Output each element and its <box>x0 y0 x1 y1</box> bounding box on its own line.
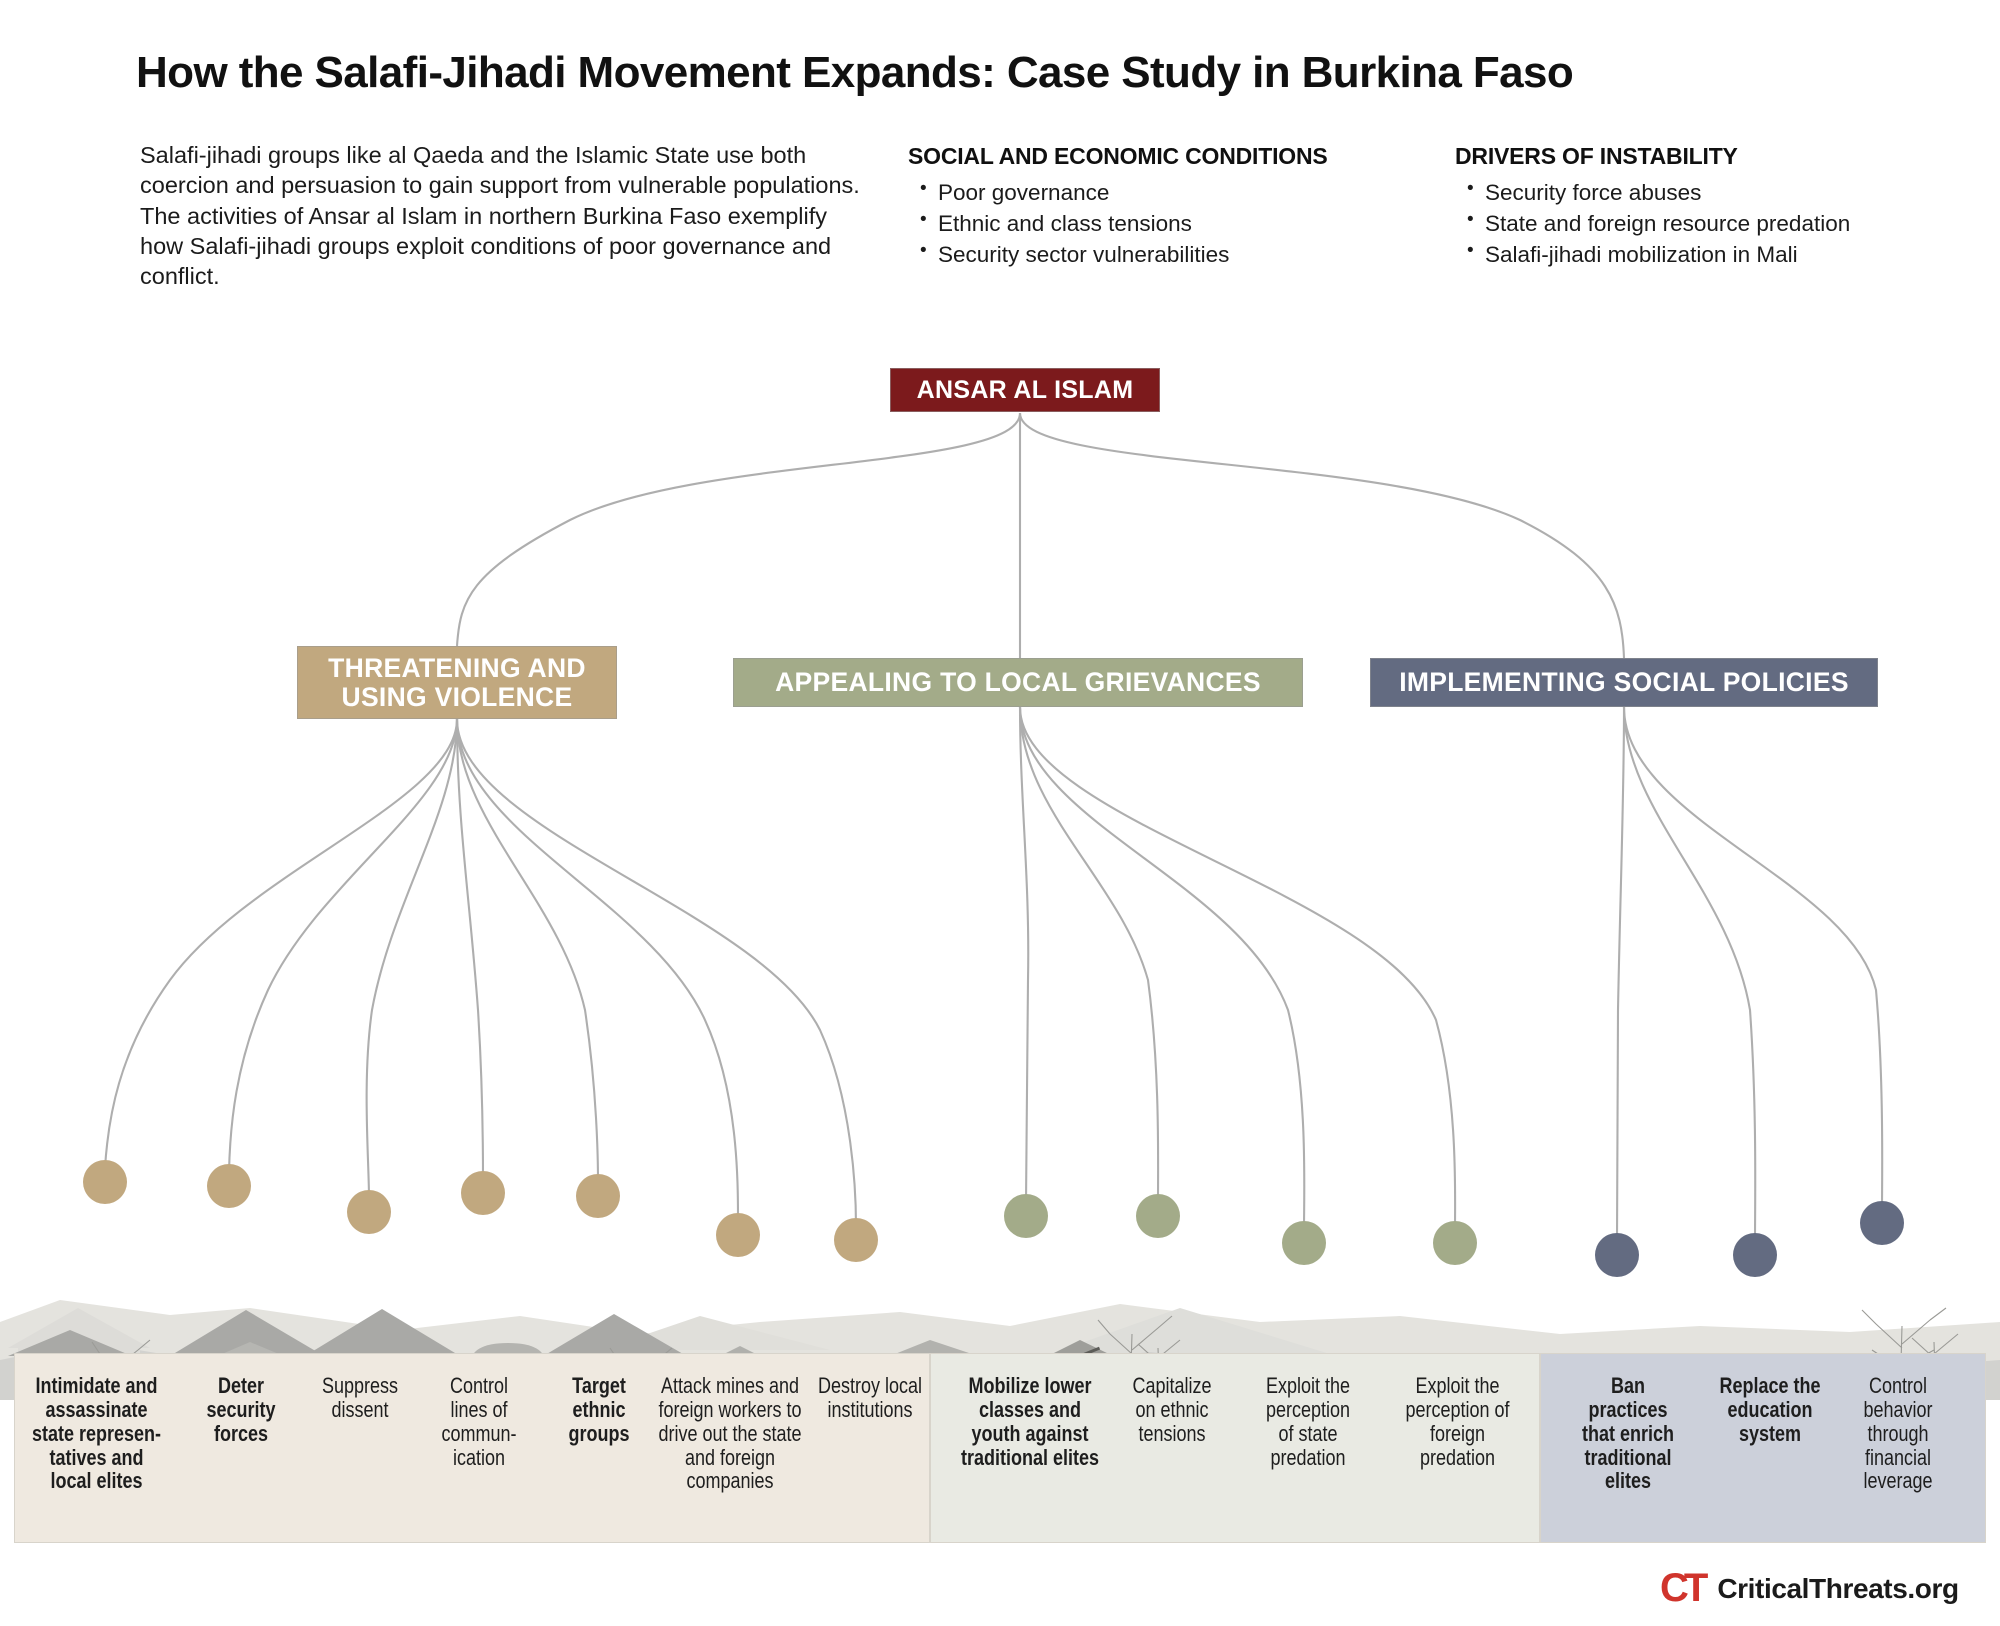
leaf-dot[interactable] <box>207 1164 251 1208</box>
ct-monogram-icon: CT <box>1660 1566 1703 1611</box>
leaf-dot[interactable] <box>834 1218 878 1262</box>
leaf-label: Capitalize on ethnic tensions <box>1124 1374 1220 1446</box>
infographic-canvas: How the Salafi-Jihadi Movement Expands: … <box>0 0 2000 1626</box>
leaf-label: Suppress dissent <box>312 1374 408 1422</box>
leaf-label: Control behavior through financial lever… <box>1850 1374 1946 1493</box>
leaf-label: Control lines of commun-ication <box>435 1374 523 1469</box>
leaf-label: Exploit the perception of state predatio… <box>1256 1374 1360 1469</box>
leaf-label: Attack mines and foreign workers to driv… <box>646 1374 814 1493</box>
leaf-label: Replace the education system <box>1714 1374 1826 1446</box>
leaf-label: Deter security forces <box>197 1374 285 1446</box>
leaf-dot[interactable] <box>1595 1233 1639 1277</box>
leaf-dot[interactable] <box>1004 1194 1048 1238</box>
category-implementing-social-policies[interactable]: IMPLEMENTING SOCIAL POLICIES <box>1370 658 1878 707</box>
leaf-dot[interactable] <box>83 1160 127 1204</box>
leaf-label: Exploit the perception of foreign predat… <box>1404 1374 1512 1469</box>
leaf-label: Target ethnic groups <box>556 1374 642 1446</box>
leaf-label: Mobilize lower classes and youth against… <box>954 1374 1106 1469</box>
leaf-dot[interactable] <box>1433 1221 1477 1265</box>
category-threatening-and-using-violence[interactable]: THREATENING AND USING VIOLENCE <box>297 646 617 719</box>
category-appealing-to-local-grievances[interactable]: APPEALING TO LOCAL GRIEVANCES <box>733 658 1303 707</box>
leaf-dot[interactable] <box>461 1171 505 1215</box>
leaf-dot[interactable] <box>716 1213 760 1257</box>
leaf-dot[interactable] <box>576 1174 620 1218</box>
leaf-label: Destroy local institutions <box>814 1374 926 1422</box>
leaf-dot[interactable] <box>1282 1221 1326 1265</box>
logo-wordmark: CriticalThreats.org <box>1717 1573 1958 1605</box>
leaf-label: Ban practices that enrich traditional el… <box>1572 1374 1684 1493</box>
leaf-label: Intimidate and assassinate state represe… <box>31 1374 163 1493</box>
node-ansar-al-islam[interactable]: ANSAR AL ISLAM <box>890 368 1160 412</box>
footer-divider <box>14 1549 1986 1550</box>
critical-threats-logo[interactable]: CT CriticalThreats.org <box>1660 1566 1959 1611</box>
leaf-dot[interactable] <box>1860 1201 1904 1245</box>
leaf-dot[interactable] <box>347 1190 391 1234</box>
leaf-dot[interactable] <box>1733 1233 1777 1277</box>
leaf-dot[interactable] <box>1136 1194 1180 1238</box>
